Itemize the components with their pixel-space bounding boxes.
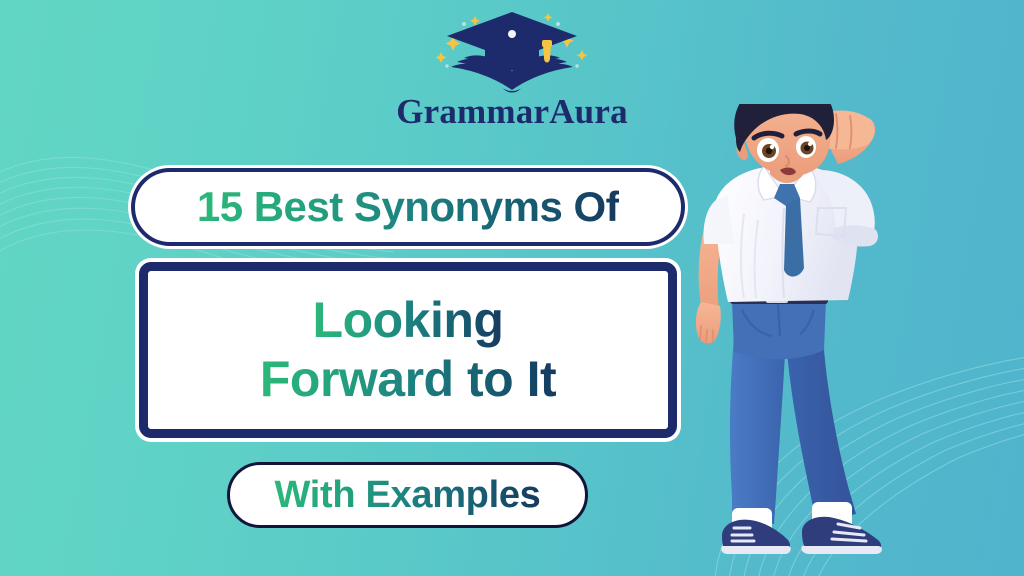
boy-shading-eyes-icon — [688, 104, 918, 576]
footer-text: With Examples — [274, 474, 540, 517]
title-line-1: Looking — [313, 291, 504, 350]
graduation-cap-book-icon — [417, 4, 607, 96]
boy-illustration — [688, 104, 918, 576]
brand-name: GrammarAura — [396, 94, 628, 129]
poster-canvas: GrammarAura 15 Best Synonyms Of Looking … — [0, 0, 1024, 576]
eyebrow-text: 15 Best Synonyms Of — [197, 183, 619, 231]
title-box: Looking Forward to It — [139, 262, 677, 438]
footer-pill: With Examples — [227, 462, 588, 528]
eyebrow-pill: 15 Best Synonyms Of — [131, 168, 685, 246]
title-line-2: Forward to It — [260, 350, 556, 409]
